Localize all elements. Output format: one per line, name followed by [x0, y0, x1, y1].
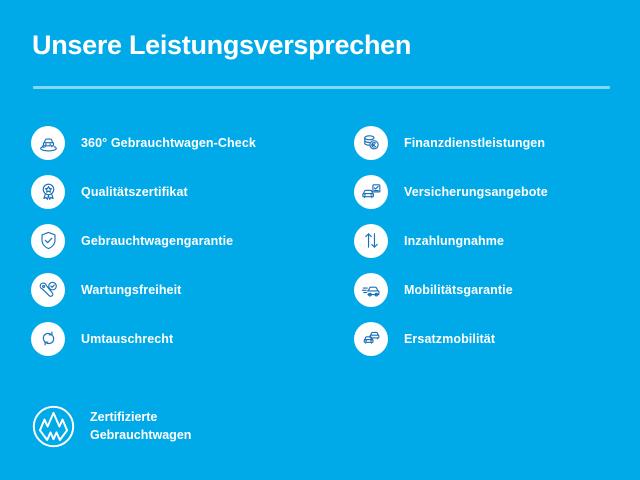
promise-label: Inzahlungnahme: [404, 234, 504, 248]
brand-line-2: Gebrauchtwagen: [90, 427, 191, 445]
exchange-arrows-icon: [31, 322, 65, 356]
shield-check-icon: [31, 224, 65, 258]
promise-label: Wartungsfreiheit: [81, 283, 181, 297]
arrows-up-down-icon: [354, 224, 388, 258]
promise-item-quality-certificate[interactable]: Qualitätszertifikat: [31, 167, 327, 216]
wrench-check-icon: [31, 273, 65, 307]
promise-label: Ersatzmobilität: [404, 332, 495, 346]
promise-item-replacement-mobility[interactable]: Ersatzmobilität: [354, 314, 640, 363]
promise-label: Gebrauchtwagengarantie: [81, 234, 233, 248]
promise-item-insurance-offers[interactable]: Versicherungsangebote: [354, 167, 640, 216]
promise-item-mobility-guarantee[interactable]: Mobilitätsgarantie: [354, 265, 640, 314]
promises-column-left: 360° Gebrauchtwagen-Check Qualitätszerti…: [0, 118, 327, 363]
promise-item-maintenance-free[interactable]: Wartungsfreiheit: [31, 265, 327, 314]
promise-label: 360° Gebrauchtwagen-Check: [81, 136, 256, 150]
promise-label: Finanzdienstleistungen: [404, 136, 545, 150]
promise-item-financial-services[interactable]: Finanzdienstleistungen: [354, 118, 640, 167]
promise-item-exchange-right[interactable]: Umtauschrecht: [31, 314, 327, 363]
promise-item-360-check[interactable]: 360° Gebrauchtwagen-Check: [31, 118, 327, 167]
coins-euro-icon: [354, 126, 388, 160]
promise-label: Versicherungsangebote: [404, 185, 548, 199]
car-360-check-icon: [31, 126, 65, 160]
promises-columns: 360° Gebrauchtwagen-Check Qualitätszerti…: [0, 118, 640, 363]
promise-item-used-car-warranty[interactable]: Gebrauchtwagengarantie: [31, 216, 327, 265]
promise-label: Umtauschrecht: [81, 332, 173, 346]
promises-column-right: Finanzdienstleistungen Versicherungsange…: [327, 118, 640, 363]
car-document-icon: [354, 175, 388, 209]
award-rosette-icon: [31, 175, 65, 209]
promise-label: Qualitätszertifikat: [81, 185, 188, 199]
car-motion-icon: [354, 273, 388, 307]
two-cars-icon: [354, 322, 388, 356]
page-title: Unsere Leistungsversprechen: [32, 30, 411, 61]
title-divider: [33, 86, 610, 89]
promises-panel: Unsere Leistungsversprechen 360° Gebrauc…: [0, 0, 640, 480]
promise-item-trade-in[interactable]: Inzahlungnahme: [354, 216, 640, 265]
promise-label: Mobilitätsgarantie: [404, 283, 513, 297]
footer-brand: Zertifizierte Gebrauchtwagen: [31, 404, 191, 449]
brand-line-1: Zertifizierte: [90, 409, 191, 427]
brand-text: Zertifizierte Gebrauchtwagen: [90, 409, 191, 445]
vw-logo-icon: [31, 404, 76, 449]
